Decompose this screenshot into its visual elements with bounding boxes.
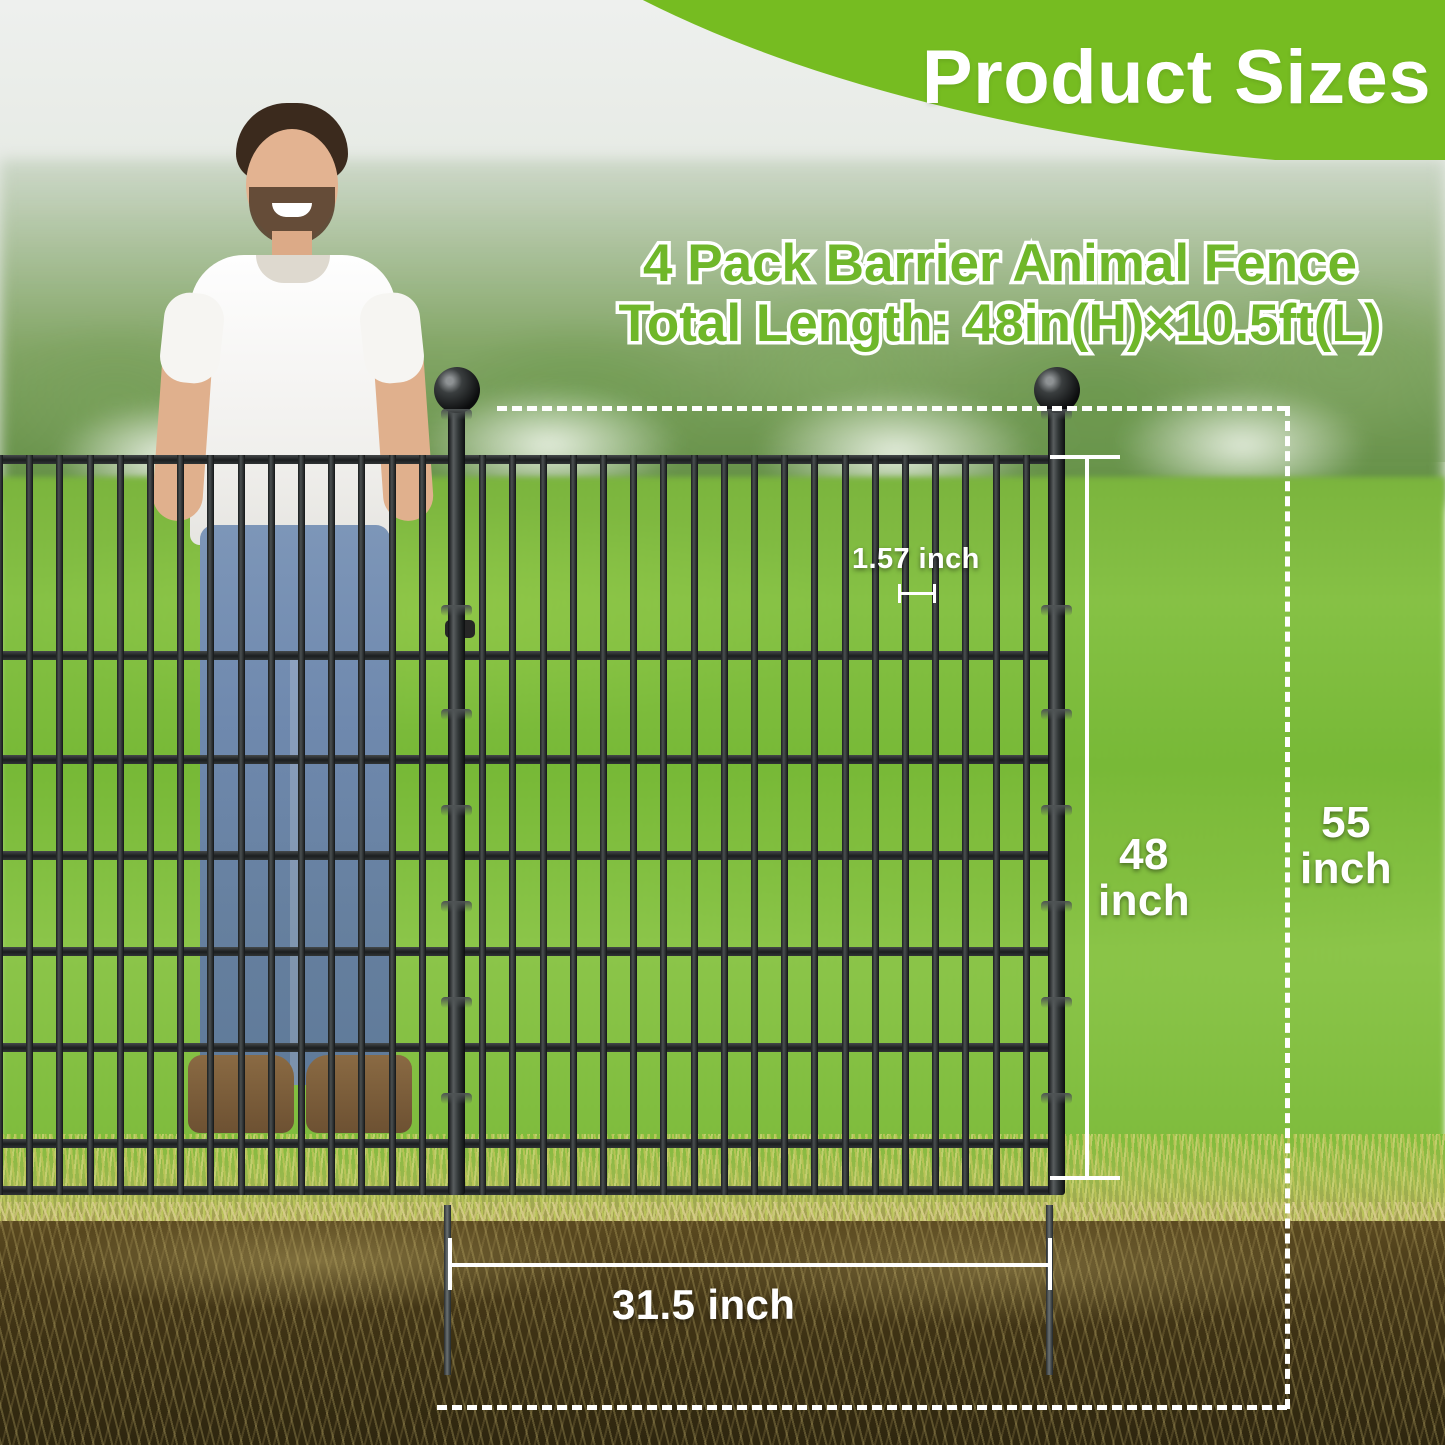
panel-height-bottom-cap	[1050, 1176, 1120, 1180]
fence-post-collar	[441, 901, 472, 912]
fence-rail	[0, 651, 1060, 660]
fence-rail	[0, 455, 1060, 464]
fence-vertical-bar	[389, 455, 396, 1195]
fence-rail	[0, 1043, 1060, 1052]
panel-width-left-cap	[448, 1238, 452, 1290]
fence-rail	[0, 1186, 1060, 1195]
fence-rail	[0, 947, 1060, 956]
fence-vertical-bar	[479, 455, 486, 1195]
panel-height-top-cap	[1050, 455, 1120, 459]
fence-vertical-bar	[781, 455, 788, 1195]
fence-post-collar	[441, 605, 472, 616]
fence-post-left	[448, 407, 465, 1195]
bar-spacing-left-cap	[898, 584, 901, 603]
subtitle-line-1: 4 Pack Barrier Animal Fence	[560, 234, 1440, 294]
fence-post-finial-left	[434, 367, 480, 413]
bar-spacing-right-cap	[933, 584, 936, 603]
panel-width-measure-line	[448, 1263, 1052, 1267]
fence-rail	[0, 1139, 1060, 1148]
bottom-dashed-guide	[437, 1405, 1287, 1410]
label-bar-spacing: 1.57 inch	[852, 544, 980, 574]
fence-vertical-bar	[691, 455, 698, 1195]
fence-post-collar	[1041, 901, 1072, 912]
fence-vertical-bar	[358, 455, 365, 1195]
fence-vertical-bar	[117, 455, 124, 1195]
fence-vertical-bar	[177, 455, 184, 1195]
fence-post-collar	[1041, 605, 1072, 616]
fence-rail	[0, 851, 1060, 860]
fence-vertical-bar	[87, 455, 94, 1195]
fence-vertical-bar	[1023, 455, 1030, 1195]
panel-height-measure-line	[1085, 455, 1089, 1180]
fence-post-collar	[441, 1093, 472, 1104]
fence-post-collar	[1041, 805, 1072, 816]
bar-spacing-measure-line	[898, 592, 936, 595]
fence-vertical-bar	[509, 455, 516, 1195]
fence-post-collar	[1041, 1093, 1072, 1104]
panel-width-right-cap	[1048, 1238, 1052, 1290]
fence-stake-right	[1046, 1205, 1053, 1375]
label-55-inch: 55 inch	[1300, 800, 1392, 892]
fence-stake-left	[444, 1205, 451, 1375]
fence-vertical-bar	[600, 455, 607, 1195]
fence-vertical-bar	[298, 455, 305, 1195]
top-dashed-guide	[497, 406, 1287, 411]
label-55-value: 55	[1300, 800, 1392, 846]
fence-post-collar	[441, 409, 472, 420]
fence-vertical-bar	[630, 455, 637, 1195]
fence-vertical-bar	[993, 455, 1000, 1195]
label-55-unit: inch	[1300, 846, 1392, 892]
fence-vertical-bar	[751, 455, 758, 1195]
fence-post-collar	[441, 805, 472, 816]
label-48-inch: 48 inch	[1098, 832, 1190, 924]
fence-post-collar	[1041, 997, 1072, 1008]
fence-post-collar	[441, 709, 472, 720]
soil-cross-section	[0, 1221, 1445, 1445]
product-subtitle: 4 Pack Barrier Animal Fence Total Length…	[560, 234, 1440, 355]
fence-vertical-bar	[721, 455, 728, 1195]
subtitle-line-2: Total Length: 48in(H)×10.5ft(L)	[560, 294, 1440, 354]
header-banner: Product Sizes	[435, 0, 1445, 160]
fence-vertical-bar	[328, 455, 335, 1195]
fence-post-right	[1048, 407, 1065, 1195]
total-height-dashed-guide	[1285, 406, 1290, 1409]
banner-title: Product Sizes	[922, 34, 1431, 121]
label-48-unit: inch	[1098, 878, 1190, 924]
fence-vertical-bar	[660, 455, 667, 1195]
fence-vertical-bar	[419, 455, 426, 1195]
fence-vertical-bar	[811, 455, 818, 1195]
fence-rail	[0, 755, 1060, 764]
fence-vertical-bar	[842, 455, 849, 1195]
label-panel-width: 31.5 inch	[612, 1283, 795, 1327]
fence-vertical-bar	[147, 455, 154, 1195]
product-sizes-infographic: 48 inch 55 inch 31.5 inch 1.57 inch Prod…	[0, 0, 1445, 1445]
label-48-value: 48	[1098, 832, 1190, 878]
fence-vertical-bar	[238, 455, 245, 1195]
fence-vertical-bar	[207, 455, 214, 1195]
person-right-sleeve	[357, 290, 426, 386]
fence-vertical-bar	[56, 455, 63, 1195]
fence-vertical-bar	[540, 455, 547, 1195]
fence-vertical-bar	[268, 455, 275, 1195]
fence-post-collar	[441, 997, 472, 1008]
fence-vertical-bar	[0, 455, 3, 1195]
fence-vertical-bar	[570, 455, 577, 1195]
fence-post-collar	[1041, 709, 1072, 720]
fence-vertical-bar	[26, 455, 33, 1195]
